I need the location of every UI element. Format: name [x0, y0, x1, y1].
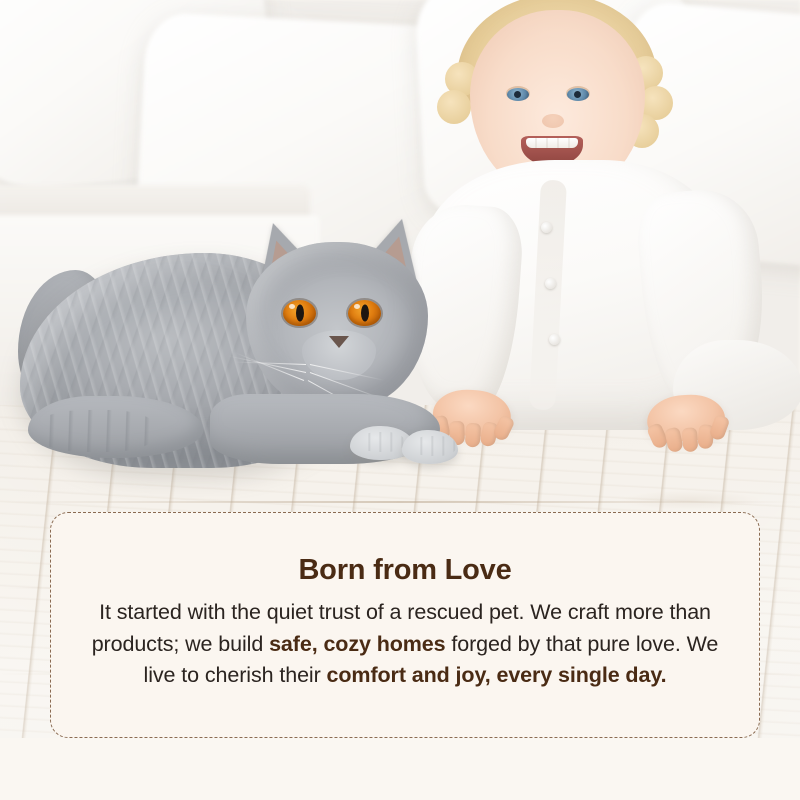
- cat-eye-highlight: [289, 304, 295, 309]
- story-card: Born from Love It started with the quiet…: [50, 512, 760, 738]
- cat-paw: [402, 430, 458, 464]
- cat-eye-left: [283, 300, 316, 326]
- story-body-emphasis: comfort and joy, every single day.: [327, 663, 667, 687]
- baby-teeth: [526, 138, 578, 148]
- cat-eye-highlight: [354, 304, 360, 309]
- onesie-button: [549, 334, 560, 345]
- cat-figure: [10, 218, 480, 483]
- baby-nose: [542, 114, 564, 128]
- cat-head: [246, 242, 428, 410]
- bottom-band: [0, 738, 800, 800]
- cat-nose: [329, 336, 349, 348]
- baby-eye-right: [567, 88, 589, 101]
- hair-curl: [437, 90, 471, 124]
- floor-seam: [0, 501, 800, 503]
- finger: [708, 414, 730, 442]
- cat-pupil: [296, 305, 304, 322]
- baby-eye-left: [507, 88, 529, 101]
- cat-eye-right: [348, 300, 381, 326]
- cat-hind-leg: [28, 396, 203, 458]
- finger: [664, 427, 684, 454]
- finger: [682, 427, 699, 452]
- story-title: Born from Love: [298, 554, 511, 587]
- story-body: It started with the quiet trust of a res…: [91, 597, 719, 691]
- promo-image-canvas: Born from Love It started with the quiet…: [0, 0, 800, 800]
- story-body-emphasis: safe, cozy homes: [269, 632, 445, 656]
- onesie-button: [545, 278, 556, 289]
- onesie-button: [541, 222, 552, 233]
- cat-pupil: [361, 305, 369, 322]
